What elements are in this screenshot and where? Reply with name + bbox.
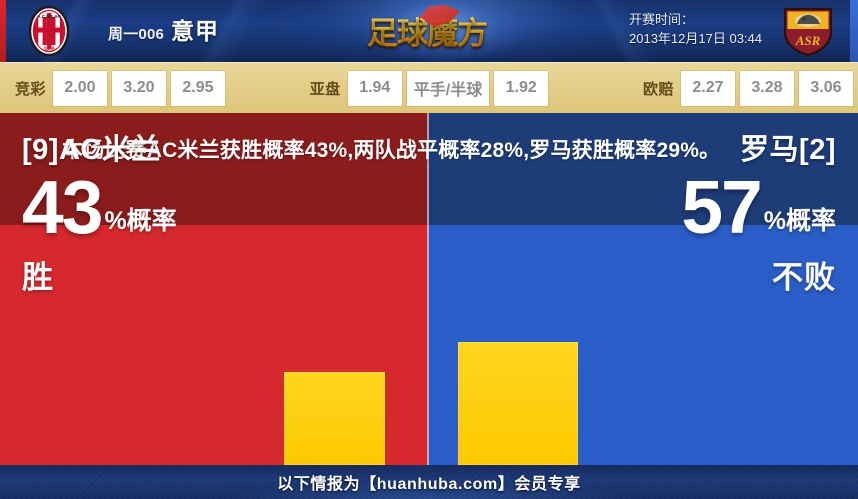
odds-cell-draw[interactable]: 3.28	[740, 71, 794, 106]
odds-cell-away[interactable]: 2.95	[171, 71, 225, 106]
kickoff-time: 开赛时间： 2013年12月17日 03:44	[629, 11, 762, 49]
round-number: 周一006	[108, 23, 164, 44]
odds-group-label: 竞彩	[15, 78, 46, 99]
odds-cell-draw[interactable]: 3.20	[112, 71, 166, 106]
league-info: 周一006 意甲	[108, 12, 219, 50]
membership-footer: 以下情报为【huanhuba.com】会员专享	[0, 465, 858, 499]
away-probability-row: 57 %概率	[586, 173, 836, 242]
membership-footer-text: 以下情报为【huanhuba.com】会员专享	[277, 470, 581, 494]
odds-bar: 竞彩 2.00 3.20 2.95 亚盘 1.94 平手/半球 1.92 欧赔 …	[0, 62, 858, 113]
kickoff-label: 开赛时间：	[629, 11, 762, 30]
svg-text:A.C.MILAN: A.C.MILAN	[37, 14, 61, 19]
header-left-accent-strip	[0, 0, 6, 62]
away-team-name: 罗马[2]	[586, 136, 836, 165]
home-probability-bar	[284, 372, 385, 465]
away-probability-unit: %概率	[761, 210, 836, 242]
away-probability-value: 57	[681, 173, 760, 242]
as-roma-crest-icon: ASR	[780, 5, 836, 57]
svg-text:1899: 1899	[43, 47, 54, 53]
home-team-name: [9]AC米兰	[22, 136, 272, 165]
odds-group-label: 亚盘	[310, 78, 341, 99]
away-probability-bar	[458, 342, 578, 465]
svg-text:ASR: ASR	[795, 33, 821, 48]
match-header: A.C.MILAN 1899 周一006 意甲 足球魔方 开赛时间： 2013年…	[0, 0, 858, 62]
odds-cell-handicap[interactable]: 平手/半球	[407, 71, 489, 106]
home-probability-unit: %概率	[101, 210, 176, 242]
odds-group-asian-handicap: 亚盘 1.94 平手/半球 1.92	[310, 71, 553, 106]
ac-milan-crest-icon: A.C.MILAN 1899	[22, 5, 76, 57]
odds-cell-away[interactable]: 3.06	[799, 71, 853, 106]
panel-divider	[427, 113, 429, 465]
odds-cell-away[interactable]: 1.92	[494, 71, 548, 106]
away-team-stats: 罗马[2] 57 %概率 不败	[586, 136, 836, 297]
home-outcome-label: 胜	[22, 252, 272, 297]
odds-group-european: 欧赔 2.27 3.28 3.06	[643, 71, 858, 106]
header-right-accent-strip	[850, 0, 858, 62]
odds-group-jingcai: 竞彩 2.00 3.20 2.95	[15, 71, 230, 106]
away-outcome-label: 不败	[586, 252, 836, 297]
kickoff-value: 2013年12月17日 03:44	[629, 30, 762, 49]
league-name: 意甲	[171, 12, 219, 46]
brand-logo: 足球魔方	[362, 8, 492, 52]
home-probability-row: 43 %概率	[22, 173, 272, 242]
odds-cell-home[interactable]: 2.00	[53, 71, 107, 106]
odds-cell-home[interactable]: 1.94	[348, 71, 402, 106]
odds-cell-home[interactable]: 2.27	[681, 71, 735, 106]
odds-group-label: 欧赔	[643, 78, 674, 99]
home-team-stats: [9]AC米兰 43 %概率 胜	[22, 136, 272, 297]
home-probability-value: 43	[22, 173, 101, 242]
infographic-canvas: A.C.MILAN 1899 周一006 意甲 足球魔方 开赛时间： 2013年…	[0, 0, 858, 499]
